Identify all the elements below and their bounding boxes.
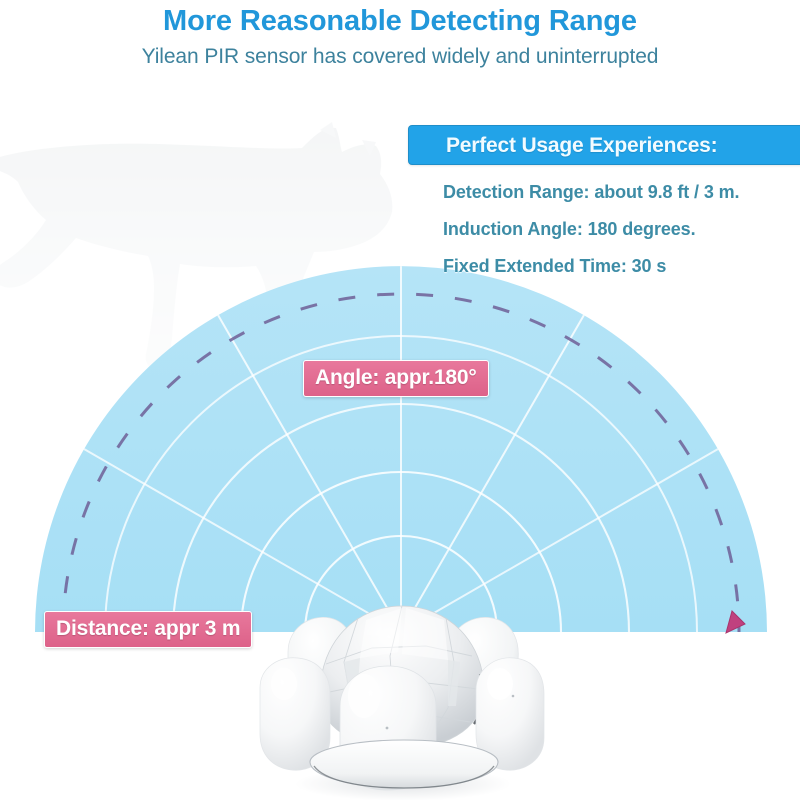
page-subtitle: Yilean PIR sensor has covered widely and… <box>0 38 800 70</box>
info-list-item: Detection Range: about 9.8 ft / 3 m. <box>443 182 800 203</box>
distance-callout-label: Distance: appr 3 m <box>44 611 252 648</box>
infographic-page: More Reasonable Detecting Range Yilean P… <box>0 0 800 800</box>
sensor-base <box>310 740 498 788</box>
angle-callout-label: Angle: appr.180° <box>303 360 489 397</box>
usage-info-header: Perfect Usage Experiences: <box>408 125 800 165</box>
page-title: More Reasonable Detecting Range <box>0 0 800 38</box>
sweep-arrowhead-icon <box>726 611 745 633</box>
heading-block: More Reasonable Detecting Range Yilean P… <box>0 0 800 70</box>
pir-sensor-device-image <box>248 556 554 800</box>
info-list-item: Induction Angle: 180 degrees. <box>443 219 800 240</box>
usage-info-header-label: Perfect Usage Experiences: <box>446 134 717 157</box>
usage-info-list: Detection Range: about 9.8 ft / 3 m.Indu… <box>408 165 800 277</box>
usage-info-panel: Perfect Usage Experiences:Detection Rang… <box>408 125 800 293</box>
info-list-item: Fixed Extended Time: 30 s <box>443 256 800 277</box>
